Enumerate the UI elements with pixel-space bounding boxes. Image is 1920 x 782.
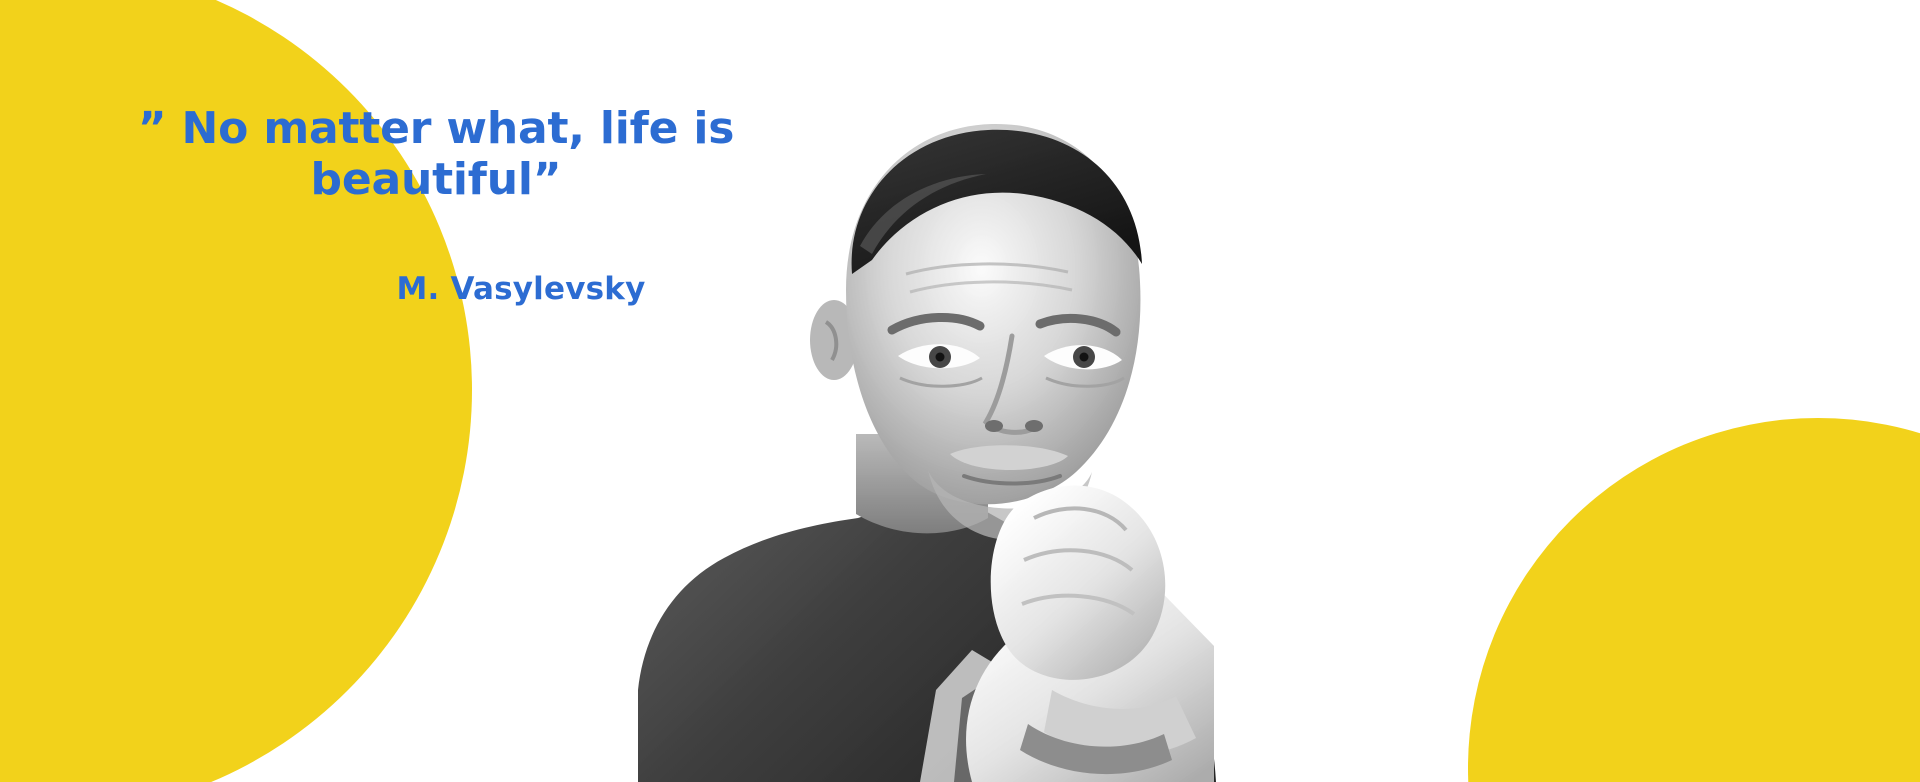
quote-attribution: M. Vasylevsky bbox=[96, 205, 776, 307]
yellow-circle-bottom-right-decoration bbox=[1468, 418, 1920, 782]
quote-block: ” No matter what, life is beautiful” M. … bbox=[96, 104, 776, 307]
quote-text: ” No matter what, life is beautiful” bbox=[96, 104, 776, 205]
quote-banner: ” No matter what, life is beautiful” M. … bbox=[0, 0, 1920, 782]
